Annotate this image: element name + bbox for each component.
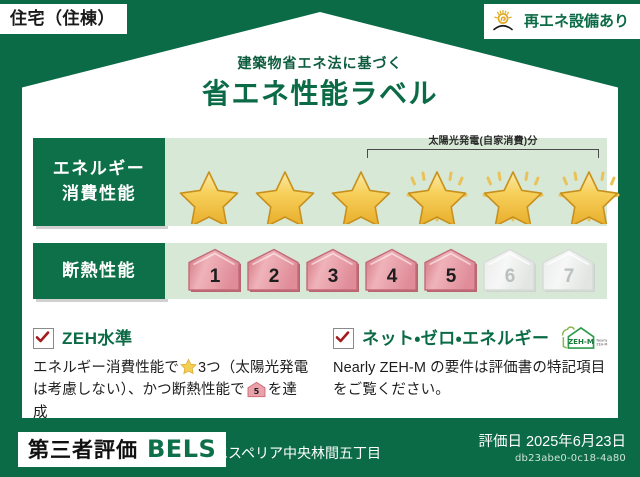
evaluation-info: 評価日 2025年6月23日 db23abe0-0c18-4a80 [479,434,626,465]
svg-text:ZEH-M: ZEH-M [596,343,607,347]
insulation-level-item: 7 [541,248,597,294]
insulation-level-scale: 1234567 [187,247,601,295]
zeh-body-part1: エネルギー消費性能で [33,360,179,376]
energy-star [551,162,627,224]
energy-label-root: 住宅（住棟） 再エネ設備あり 建築物省エネ法に基づく [0,0,640,477]
building-category-chip: 住宅（住棟） [0,4,127,34]
building-category-label: 住宅（住棟） [10,10,115,27]
net-zero-energy-body: Nearly ZEH-M の要件は評価書の特記項目をご覧ください。 [333,357,611,402]
third-party-eval-label: 第三者評価 [28,440,138,461]
star-icon [171,162,247,224]
energy-performance-body: 太陽光発電(自家消費)分 [165,138,607,226]
checkbox-checked-icon [333,328,354,349]
house-icon [423,248,479,294]
label-subtitle: 建築物省エネ法に基づく [0,55,640,72]
insulation-performance-label: 断熱性能 [33,243,165,299]
bels-logo-text: BELS [147,437,216,461]
star-icon [247,162,323,224]
label-title: 省エネ性能ラベル [0,79,640,110]
zeh-standard-note: ZEH水準 エネルギー消費性能で3つ（太陽光発電は考慮しない）、かつ断熱性能で5… [33,326,311,424]
star-icon [475,162,551,224]
energy-star [247,162,323,224]
net-zero-energy-note: ネット・ゼロ・エネルギー ZEH-M Nearly ZEH-M Nearly Z… [333,326,611,424]
insulation-performance-body: 1234567 [165,243,607,299]
house-icon [246,248,302,294]
svg-text:5: 5 [253,387,259,397]
renewable-equipment-label: 再エネ設備あり [524,14,629,29]
house-icon [305,248,361,294]
sun-icon-svg [492,9,518,33]
insulation-performance-row: 断熱性能 1234567 [33,243,607,299]
bels-footer-chip: 第三者評価 BELS [18,432,226,467]
check-icon [35,330,50,345]
inline-star-icon [180,358,197,375]
evaluation-date: 評価日 2025年6月23日 [479,434,626,451]
insulation-level-item: 2 [246,248,302,294]
insulation-level-item: 3 [305,248,361,294]
zeh-standard-title: ZEH水準 [62,330,133,347]
sun-icon [492,9,518,33]
insulation-level-item: 1 [187,248,243,294]
energy-star [323,162,399,224]
house-icon [482,248,538,294]
check-icon [335,330,350,345]
zeh-standard-body: エネルギー消費性能で3つ（太陽光発電は考慮しない）、かつ断熱性能で5を達成 [33,357,311,424]
energy-label-line2: 消費性能 [62,182,136,207]
insulation-level-item: 5 [423,248,479,294]
energy-star [475,162,551,224]
energy-star-rating [171,162,601,224]
svg-text:ZEH-M: ZEH-M [568,337,594,346]
net-zero-energy-title: ネット・ゼロ・エネルギー [362,330,550,347]
insulation-level-item: 6 [482,248,538,294]
star-icon [551,162,627,224]
criteria-notes: ZEH水準 エネルギー消費性能で3つ（太陽光発電は考慮しない）、かつ断熱性能で5… [33,326,611,424]
star-icon [323,162,399,224]
inline-house-level-icon: 5 [247,381,266,398]
zeh-m-badge-icon: ZEH-M Nearly ZEH-M [560,325,612,351]
net-zero-energy-header: ネット・ゼロ・エネルギー ZEH-M Nearly ZEH-M [333,326,611,350]
energy-label-line1: エネルギー [53,157,146,182]
checkbox-checked-icon [33,328,54,349]
house-icon [187,248,243,294]
property-name: エスペリア中央林間五丁目 [214,446,381,460]
insulation-level-item: 4 [364,248,420,294]
renewable-equipment-chip: 再エネ設備あり [484,4,640,39]
solar-annotation-label: 太陽光発電(自家消費)分 [367,136,599,147]
zeh-standard-header: ZEH水準 [33,326,311,350]
energy-star [399,162,475,224]
title-block: 建築物省エネ法に基づく 省エネ性能ラベル [0,55,640,110]
star-icon [399,162,475,224]
energy-performance-row: エネルギー 消費性能 太陽光発電(自家消費)分 [33,138,607,226]
energy-star [171,162,247,224]
energy-performance-label: エネルギー 消費性能 [33,138,165,226]
evaluation-id: db23abe0-0c18-4a80 [479,453,626,465]
insulation-label-text: 断熱性能 [62,259,136,284]
house-icon [364,248,420,294]
solar-bracket [367,149,599,158]
solar-annotation: 太陽光発電(自家消費)分 [367,136,599,158]
house-icon [541,248,597,294]
